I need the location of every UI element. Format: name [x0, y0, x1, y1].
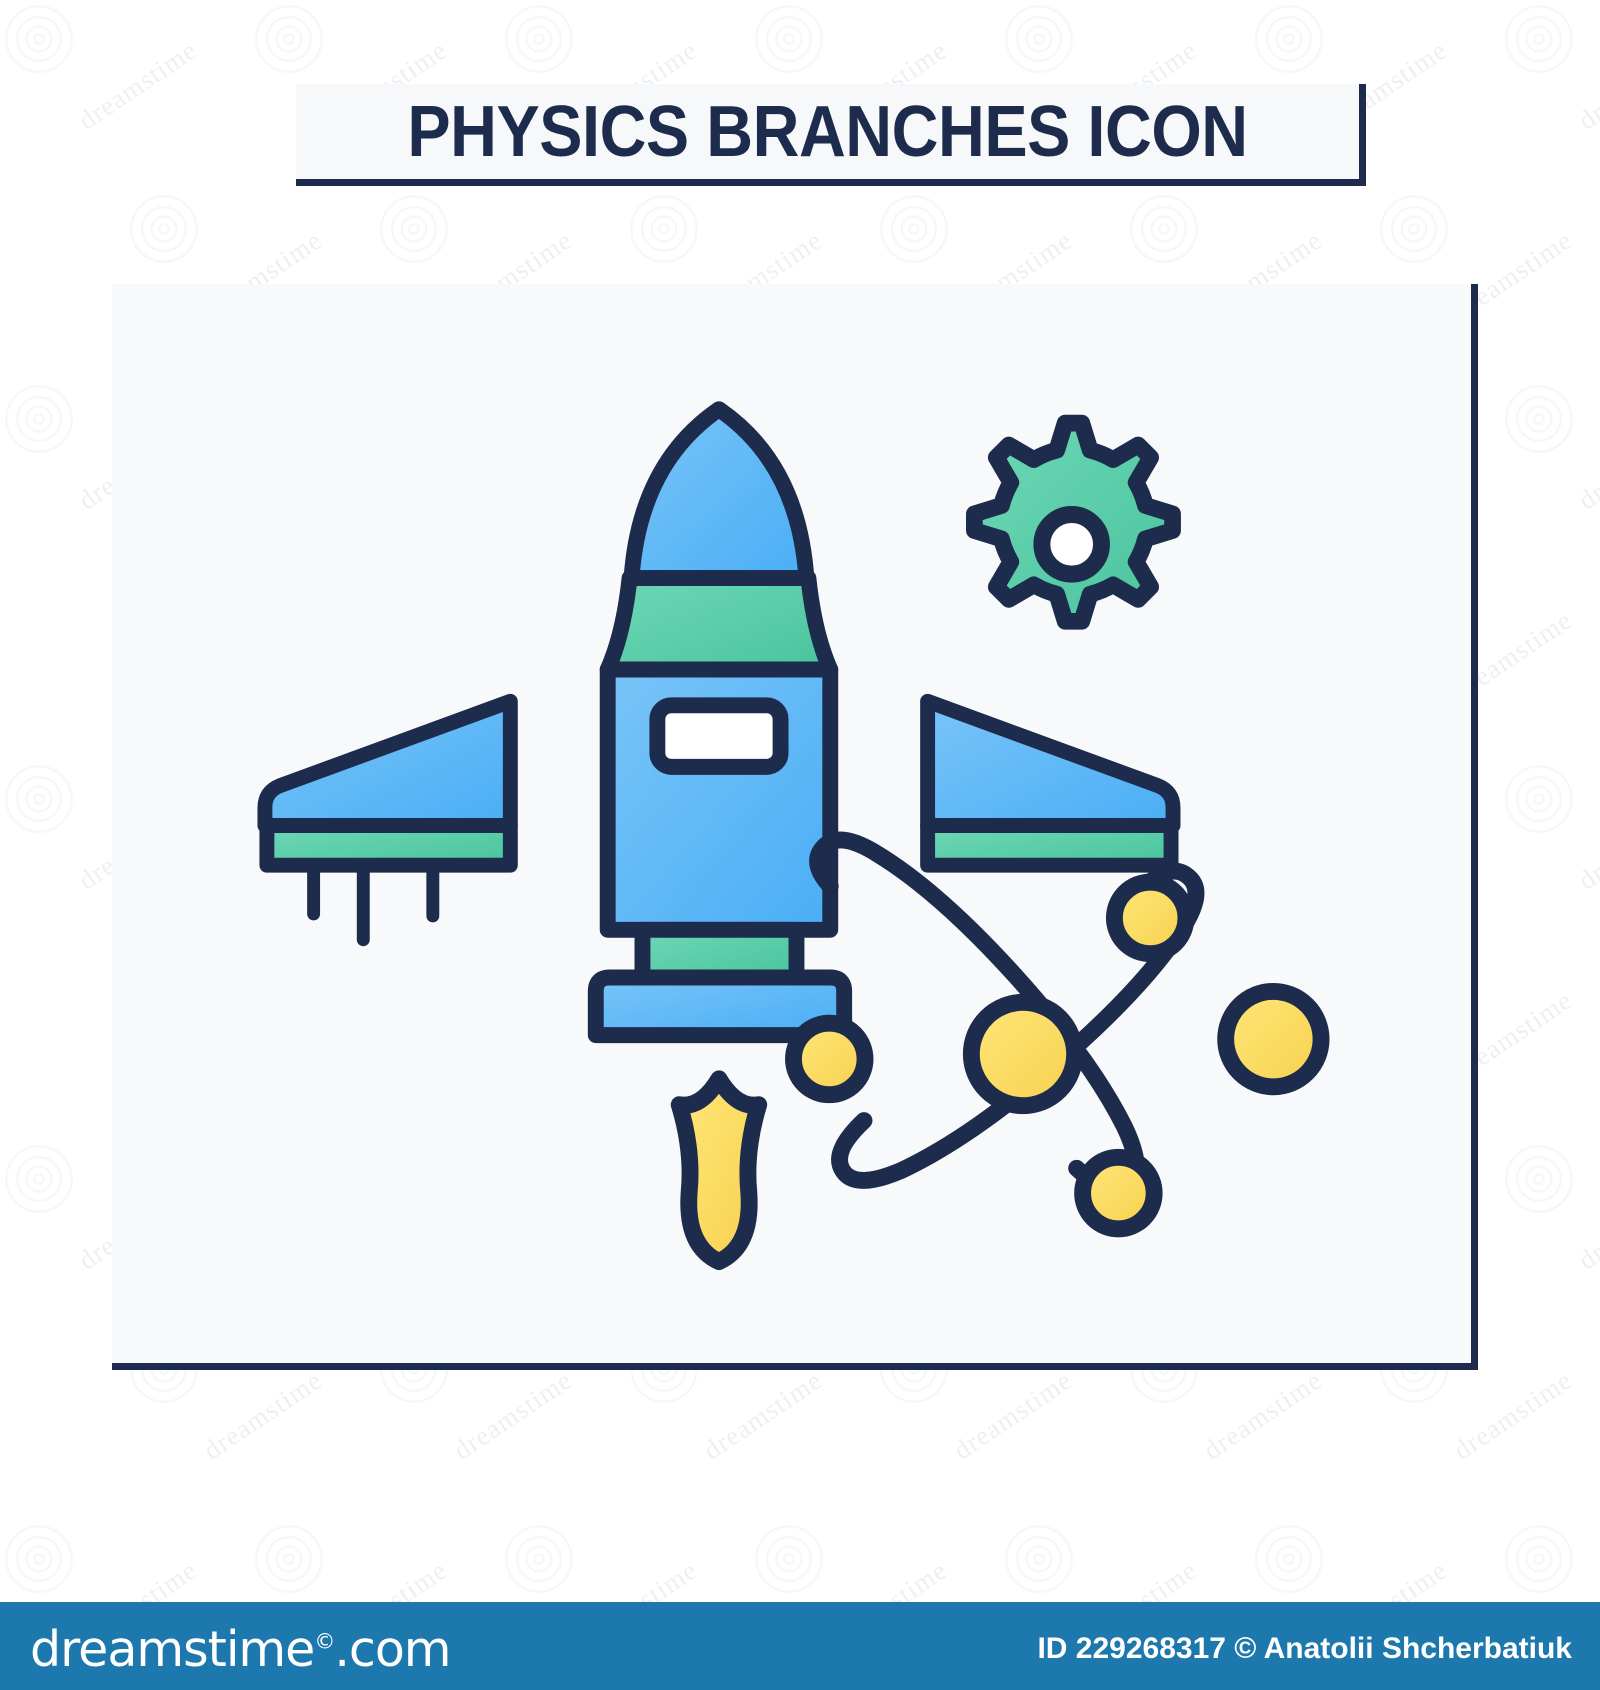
watermark-spiral-icon: [1000, 0, 1078, 78]
watermark-spiral-icon: [1500, 380, 1578, 458]
dreamstime-logo-word: dreamstime: [30, 1621, 314, 1678]
watermark-text: dreamstime: [198, 1365, 328, 1467]
electron-bottom: [1083, 1157, 1155, 1229]
watermark-text: dreamstime: [448, 1365, 578, 1467]
gear-icon: [974, 423, 1172, 621]
free-particle: [1226, 991, 1321, 1086]
atom-icon: [793, 840, 1321, 1229]
watermark-spiral-icon: [0, 1520, 78, 1598]
watermark-text: dreamstime: [1573, 795, 1600, 897]
watermark-text: dreamstime: [1198, 1365, 1328, 1467]
watermark-spiral-icon: [1500, 0, 1578, 78]
watermark-spiral-icon: [125, 190, 203, 268]
rocket-nose-cone: [608, 409, 831, 669]
physics-branches-illustration: [112, 284, 1471, 1363]
watermark-text: dreamstime: [1448, 1365, 1578, 1467]
rocket-engine: [596, 930, 844, 1035]
flame-icon: [679, 1079, 758, 1262]
watermark-spiral-icon: [1500, 1520, 1578, 1598]
dreamstime-logo-tld: .com: [334, 1621, 450, 1678]
watermark-spiral-icon: [1125, 190, 1203, 268]
watermark-spiral-icon: [0, 1140, 78, 1218]
watermark-spiral-icon: [1500, 1140, 1578, 1218]
electron-left: [793, 1023, 865, 1095]
watermark-spiral-icon: [750, 1520, 828, 1598]
watermark-spiral-icon: [375, 190, 453, 268]
watermark-spiral-icon: [500, 1520, 578, 1598]
watermark-text: dreamstime: [1573, 415, 1600, 517]
electron-top-right: [1114, 882, 1186, 954]
watermark-spiral-icon: [1250, 1520, 1328, 1598]
watermark-text: dreamstime: [698, 1365, 828, 1467]
cockpit-window: [657, 705, 780, 767]
illustration-panel: [112, 284, 1478, 1370]
watermark-spiral-icon: [1375, 190, 1453, 268]
rocket-fuselage: [608, 669, 831, 929]
watermark-spiral-icon: [1000, 1520, 1078, 1598]
registered-mark: ©: [314, 1630, 334, 1654]
watermark-text: dreamstime: [948, 1365, 1078, 1467]
dreamstime-logo[interactable]: dreamstime©.com: [30, 1621, 451, 1678]
watermark-spiral-icon: [625, 190, 703, 268]
watermark-spiral-icon: [875, 190, 953, 268]
watermark-spiral-icon: [250, 1520, 328, 1598]
watermark-spiral-icon: [500, 0, 578, 78]
watermark-text: dreamstime: [1573, 1175, 1600, 1277]
watermark-spiral-icon: [1250, 0, 1328, 78]
watermark-spiral-icon: [1500, 760, 1578, 838]
watermark-text: dreamstime: [73, 35, 203, 137]
page-title: PHYSICS BRANCHES ICON: [349, 84, 1306, 179]
watermark-text: dreamstime: [1573, 35, 1600, 137]
nucleus: [971, 1002, 1074, 1105]
watermark-spiral-icon: [750, 0, 828, 78]
watermark-spiral-icon: [0, 380, 78, 458]
image-credit: ID 229268317 © Anatolii Shcherbatiuk: [1037, 1632, 1572, 1666]
watermark-spiral-icon: [0, 760, 78, 838]
watermark-spiral-icon: [250, 0, 328, 78]
title-box: PHYSICS BRANCHES ICON: [296, 84, 1366, 186]
dreamstime-footer: dreamstime©.com ID 229268317 © Anatolii …: [0, 1602, 1600, 1690]
watermark-spiral-icon: [0, 0, 78, 78]
